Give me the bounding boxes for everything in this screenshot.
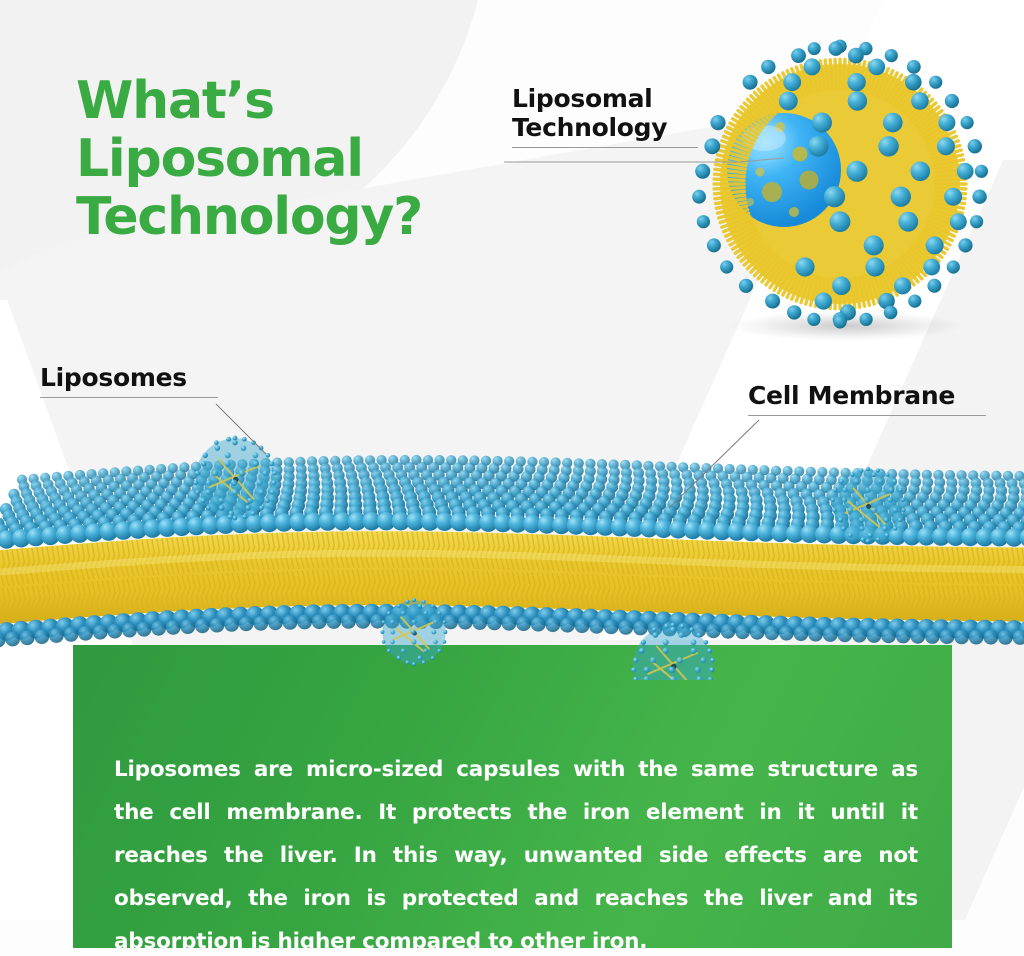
callout-cell-membrane-label: Cell Membrane <box>748 381 986 410</box>
callout-liposomal-technology: Liposomal Technology <box>512 84 698 148</box>
callout-liposomes: Liposomes <box>40 363 218 398</box>
callout-underline <box>748 415 986 416</box>
callout-underline <box>512 147 698 148</box>
infographic-canvas: What’s Liposomal Technology? <box>0 0 1024 956</box>
callout-liposomes-label: Liposomes <box>40 363 218 392</box>
description-panel-text: Liposomes are micro-sized capsules with … <box>114 748 918 956</box>
lipid-bilayer-icon <box>0 420 1024 680</box>
callout-liposomal-technology-label: Liposomal Technology <box>512 84 698 142</box>
page-title: What’s Liposomal Technology? <box>76 72 496 247</box>
callout-underline <box>40 397 218 398</box>
callout-cell-membrane: Cell Membrane <box>748 381 986 416</box>
liposome-cutaway-icon <box>668 22 1008 342</box>
